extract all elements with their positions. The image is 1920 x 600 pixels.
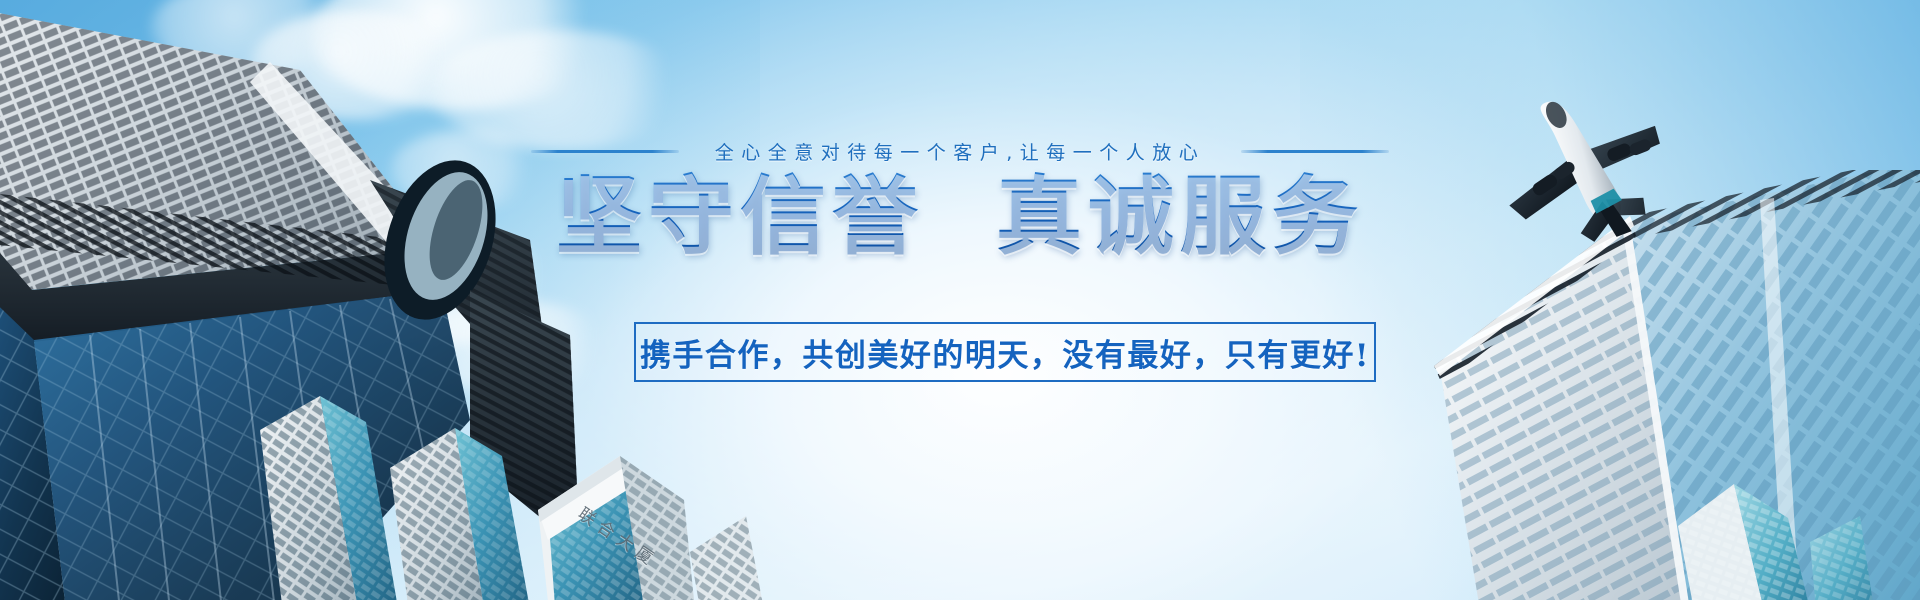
hero-banner: 联合大厦 xyxy=(0,0,1920,600)
banner-copy: 全心全意对待每一个客户,让每一个人放心 坚守信誉 真诚服务 携手合作，共创美好的… xyxy=(0,0,1920,600)
rule-right-decor xyxy=(1241,150,1389,153)
subtitle-text: 携手合作，共创美好的明天，没有最好，只有更好! xyxy=(640,330,1370,375)
tagline-row: 全心全意对待每一个客户,让每一个人放心 xyxy=(0,138,1920,165)
rule-left-decor xyxy=(531,150,679,153)
subtitle-box: 携手合作，共创美好的明天，没有最好，只有更好! xyxy=(634,322,1376,382)
tagline-text: 全心全意对待每一个客户,让每一个人放心 xyxy=(715,138,1206,165)
headline-text: 坚守信誉 真诚服务 xyxy=(0,168,1920,267)
